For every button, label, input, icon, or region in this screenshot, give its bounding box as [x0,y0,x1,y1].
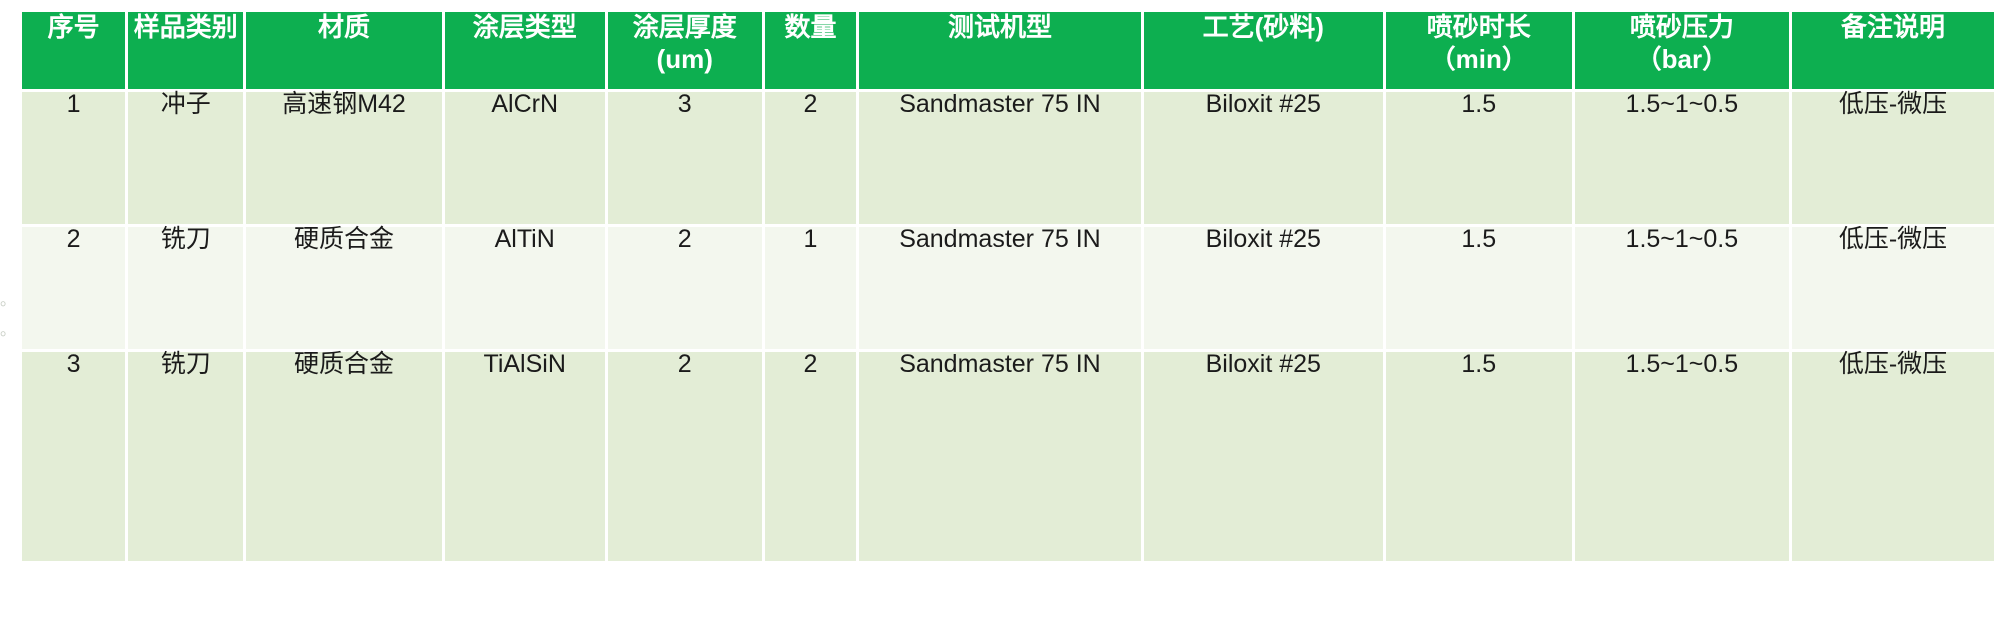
column-header-coating-type-line1: 涂层类型 [445,12,605,44]
cell-blast-pressure[interactable]: 1.5~1~0.5 [1575,352,1792,564]
cell-process-media[interactable]: Biloxit #25 [1144,92,1386,227]
cell-blast-time[interactable]: 1.5 [1386,92,1575,227]
spreadsheet-canvas: 。 。 序号 样品类别 [0,0,2015,637]
column-header-blast-time-line2: （min） [1386,44,1572,76]
column-header-material[interactable]: 材质 [246,12,444,92]
cell-test-machine[interactable]: Sandmaster 75 IN [859,352,1144,564]
cell-blast-time[interactable]: 1.5 [1386,227,1575,352]
column-header-blast-pressure-line2: （bar） [1575,44,1789,76]
cell-quantity[interactable]: 1 [765,227,859,352]
cell-material[interactable]: 高速钢M42 [246,92,444,227]
column-header-blast-time[interactable]: 喷砂时长 （min） [1386,12,1575,92]
cell-serial-no[interactable]: 3 [22,352,128,564]
cell-remark[interactable]: 低压-微压 [1792,352,1994,564]
column-header-material-line1: 材质 [246,12,441,44]
cell-test-machine[interactable]: Sandmaster 75 IN [859,227,1144,352]
column-header-test-machine[interactable]: 测试机型 [859,12,1144,92]
column-header-coating-thickness-line1: 涂层厚度 [608,12,762,44]
cell-process-media[interactable]: Biloxit #25 [1144,227,1386,352]
column-header-serial-no[interactable]: 序号 [22,12,128,92]
column-header-blast-pressure[interactable]: 喷砂压力 （bar） [1575,12,1792,92]
table-row[interactable]: 2 铣刀 硬质合金 AlTiN 2 1 Sandmaster 75 IN Bil… [22,227,1994,352]
cell-coating-type[interactable]: TiAlSiN [445,352,608,564]
cell-quantity[interactable]: 2 [765,352,859,564]
column-header-serial-no-line1: 序号 [22,12,125,44]
cell-serial-no[interactable]: 1 [22,92,128,227]
cell-blast-pressure[interactable]: 1.5~1~0.5 [1575,92,1792,227]
column-header-coating-thickness-line2: (um) [608,44,762,76]
cell-blast-pressure[interactable]: 1.5~1~0.5 [1575,227,1792,352]
cell-sample-type[interactable]: 铣刀 [128,352,246,564]
cell-coating-thickness[interactable]: 3 [608,92,765,227]
margin-artifact-text: 。 。 [0,286,20,346]
table-row[interactable]: 1 冲子 高速钢M42 AlCrN 3 2 Sandmaster 75 IN B… [22,92,1994,227]
cell-material[interactable]: 硬质合金 [246,227,444,352]
cell-serial-no[interactable]: 2 [22,227,128,352]
table-row[interactable]: 3 铣刀 硬质合金 TiAlSiN 2 2 Sandmaster 75 IN B… [22,352,1994,564]
cell-coating-thickness[interactable]: 2 [608,352,765,564]
cell-remark[interactable]: 低压-微压 [1792,92,1994,227]
table-header-row: 序号 样品类别 材质 涂层类型 涂层厚度 (um) [22,12,1994,92]
cell-coating-type[interactable]: AlCrN [445,92,608,227]
column-header-blast-pressure-line1: 喷砂压力 [1575,12,1789,44]
cell-coating-type[interactable]: AlTiN [445,227,608,352]
cell-material[interactable]: 硬质合金 [246,352,444,564]
cell-remark[interactable]: 低压-微压 [1792,227,1994,352]
column-header-sample-type-line1: 样品类别 [128,12,243,44]
column-header-quantity[interactable]: 数量 [765,12,859,92]
column-header-sample-type[interactable]: 样品类别 [128,12,246,92]
column-header-process-media[interactable]: 工艺(砂料) [1144,12,1386,92]
cell-process-media[interactable]: Biloxit #25 [1144,352,1386,564]
cell-coating-thickness[interactable]: 2 [608,227,765,352]
sample-parameters-table: 序号 样品类别 材质 涂层类型 涂层厚度 (um) [22,12,1994,564]
column-header-test-machine-line1: 测试机型 [859,12,1141,44]
cell-sample-type[interactable]: 冲子 [128,92,246,227]
cell-sample-type[interactable]: 铣刀 [128,227,246,352]
column-header-remark-line1: 备注说明 [1792,12,1994,44]
column-header-process-media-line1: 工艺(砂料) [1144,12,1383,44]
cell-blast-time[interactable]: 1.5 [1386,352,1575,564]
column-header-quantity-line1: 数量 [765,12,856,44]
column-header-coating-thickness[interactable]: 涂层厚度 (um) [608,12,765,92]
cell-test-machine[interactable]: Sandmaster 75 IN [859,92,1144,227]
cell-quantity[interactable]: 2 [765,92,859,227]
column-header-blast-time-line1: 喷砂时长 [1386,12,1572,44]
column-header-coating-type[interactable]: 涂层类型 [445,12,608,92]
column-header-remark[interactable]: 备注说明 [1792,12,1994,92]
